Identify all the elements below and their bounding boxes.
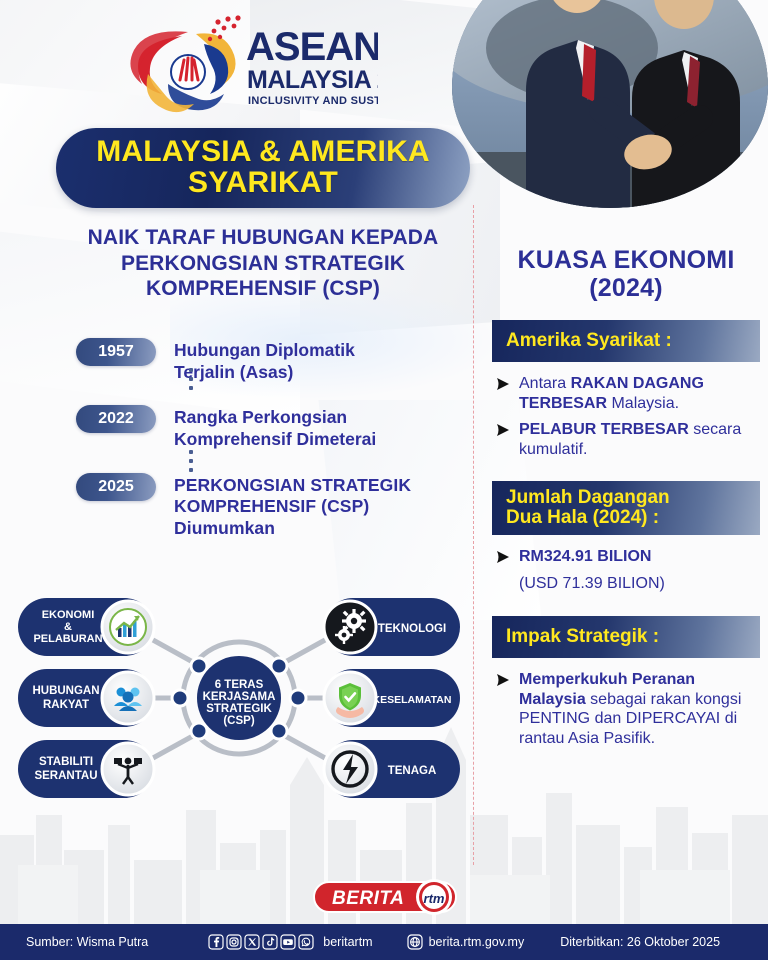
timeline-year-badge: 1957	[76, 338, 156, 366]
page-title: MALAYSIA & AMERIKA SYARIKAT	[96, 137, 430, 199]
section-header-jumlah-dagangan: Jumlah Dagangan Dua Hala (2024) :	[492, 481, 760, 535]
pillar-label-line1: KESELAMATAN	[373, 694, 452, 706]
asean-wordmark: ASEAN	[246, 25, 378, 69]
subtitle-line-1: NAIK TARAF HUBUNGAN KEPADA	[48, 225, 478, 251]
right-column: KUASA EKONOMI (2024) Amerika Syarikat : …	[492, 246, 760, 770]
facebook-icon	[208, 934, 224, 950]
footer-social-handle: beritartm	[323, 935, 372, 949]
subtitle-line-2: PERKONGSIAN STRATEGIK	[48, 251, 478, 277]
bullet-list-amerika-syarikat: Antara RAKAN DAGANG TERBESAR Malaysia. P…	[492, 374, 760, 459]
bullet-text: Antara RAKAN DAGANG TERBESAR Malaysia.	[519, 374, 758, 413]
bullet-text: Memperkukuh Peranan Malaysia sebagai rak…	[519, 670, 758, 748]
timeline-text-line2: Terjalin (Asas)	[174, 362, 355, 384]
right-title-line1: KUASA EKONOMI	[492, 246, 760, 274]
berita-wordmark: BERITA	[332, 888, 404, 909]
timeline-year-label: 2022	[98, 410, 134, 428]
timeline-text: PERKONGSIAN STRATEGIK KOMPREHENSIF (CSP)…	[174, 473, 411, 540]
timeline-text-line2: Komprehensif Dimeterai	[174, 429, 376, 451]
timeline: 1957 Hubungan Diplomatik Terjalin (Asas)…	[76, 338, 476, 546]
youtube-icon	[280, 934, 296, 950]
arrow-bullet-icon	[496, 423, 512, 437]
bullet-list-jumlah-dagangan: RM324.91 BILION (USD 71.39 BILION)	[492, 547, 760, 594]
pillar-teknologi: TEKNOLOGI	[324, 598, 460, 656]
pillar-label-line1: EKONOMI	[42, 609, 95, 621]
arrow-bullet-icon	[496, 377, 512, 391]
rtm-wordmark: rtm	[424, 891, 445, 906]
footer-website-label: berita.rtm.gov.my	[429, 935, 525, 949]
bullet-pre: Antara	[519, 375, 571, 392]
pillars-diagram: 6 TERAS KERJASAMA STRATEGIK (CSP) EKONOM…	[8, 578, 470, 818]
bullet-bold: PELABUR TERBESAR	[519, 421, 689, 438]
pillar-label-line1: HUBUNGAN	[32, 685, 99, 697]
pillar-stabiliti-serantau: STABILITI SERANTAU	[18, 740, 154, 798]
pillar-label-line3: PELABURAN	[33, 633, 102, 645]
subtitle-line-3: KOMPREHENSIF (CSP)	[48, 276, 478, 302]
bullet-item: Memperkukuh Peranan Malaysia sebagai rak…	[496, 670, 758, 748]
pillar-label-line2: RAKYAT	[43, 699, 89, 711]
pillar-hubungan-rakyat: HUBUNGAN RAKYAT	[18, 669, 154, 727]
asean-tagline: INCLUSIVITY AND SUSTAINABILITY	[248, 95, 378, 107]
section-header-amerika-syarikat: Amerika Syarikat :	[492, 320, 760, 362]
timeline-year-badge: 2022	[76, 405, 156, 433]
page-subtitle: NAIK TARAF HUBUNGAN KEPADA PERKONGSIAN S…	[48, 225, 478, 302]
arrow-bullet-icon	[496, 550, 512, 564]
timeline-text-line1: Hubungan Diplomatik	[174, 340, 355, 362]
footer-website: berita.rtm.gov.my	[407, 934, 525, 950]
whatsapp-icon	[298, 934, 314, 950]
leaders-handshake-photo	[452, 0, 768, 208]
asean-malaysia-2025-logo: ASEAN MALAYSIA 2025 INCLUSIVITY AND SUST…	[118, 12, 378, 116]
timeline-year-label: 2025	[98, 478, 134, 496]
footer-social-icons: beritartm	[208, 934, 372, 950]
timeline-year-label: 1957	[98, 343, 134, 361]
timeline-text-line1: Rangka Perkongsian	[174, 407, 376, 429]
page-title-line2: SYARIKAT	[188, 166, 338, 199]
tiktok-icon	[262, 934, 278, 950]
pillar-label-line1: TENAGA	[388, 765, 437, 777]
bullet-item: Antara RAKAN DAGANG TERBESAR Malaysia.	[496, 374, 758, 413]
x-twitter-icon	[244, 934, 260, 950]
bullet-item: RM324.91 BILION	[496, 547, 758, 567]
growth-chart-icon	[110, 609, 146, 645]
section-header-impak-strategik: Impak Strategik :	[492, 616, 760, 658]
pillar-keselamatan: KESELAMATAN	[324, 669, 460, 727]
timeline-item: 2022 Rangka Perkongsian Komprehensif Dim…	[76, 405, 476, 450]
timeline-connector	[189, 368, 193, 395]
bullet-list-impak-strategik: Memperkukuh Peranan Malaysia sebagai rak…	[492, 670, 760, 748]
pillar-label-line1: STABILITI	[39, 756, 93, 768]
timeline-item: 2025 PERKONGSIAN STRATEGIK KOMPREHENSIF …	[76, 473, 476, 540]
pillars-center-line4: (CSP)	[223, 715, 254, 727]
timeline-item: 1957 Hubungan Diplomatik Terjalin (Asas)	[76, 338, 476, 383]
timeline-text-line3: Diumumkan	[174, 518, 411, 540]
bullet-text: PELABUR TERBESAR secara kumulatif.	[519, 420, 758, 459]
bullet-post: Malaysia.	[607, 395, 679, 412]
timeline-year-badge: 2025	[76, 473, 156, 501]
section-header-label-line2: Dua Hala (2024) :	[506, 508, 670, 529]
section-header-label-line1: Jumlah Dagangan	[506, 488, 670, 509]
page-title-line1: MALAYSIA & AMERIKA	[96, 135, 430, 168]
pillar-tenaga: TENAGA	[324, 740, 460, 798]
pillar-label-line2: SERANTAU	[34, 770, 97, 782]
pillars-center-line3: STRATEGIK	[206, 703, 272, 715]
asean-subtitle: MALAYSIA 2025	[247, 66, 378, 94]
timeline-text-line1: PERKONGSIAN STRATEGIK	[174, 475, 411, 497]
asean-swirl-icon	[130, 15, 240, 112]
footer-bar: Sumber: Wisma Putra beritartm berita.rtm…	[0, 924, 768, 960]
instagram-icon	[226, 934, 242, 950]
pillar-label-line2: &	[64, 621, 72, 633]
arrow-bullet-icon	[496, 673, 512, 687]
pillars-center-line1: 6 TERAS	[215, 679, 264, 691]
bullet-item: PELABUR TERBESAR secara kumulatif.	[496, 420, 758, 459]
footer-source: Sumber: Wisma Putra	[26, 935, 148, 949]
pillars-center-line2: KERJASAMA	[203, 691, 276, 703]
bullet-text: RM324.91 BILION	[519, 547, 651, 567]
pillar-ekonomi-pelaburan: EKONOMI & PELABURAN	[18, 598, 154, 656]
timeline-text: Hubungan Diplomatik Terjalin (Asas)	[174, 338, 355, 383]
bullet-bold: RM324.91 BILION	[519, 548, 651, 565]
main-title-banner: MALAYSIA & AMERIKA SYARIKAT	[56, 128, 470, 208]
right-column-title: KUASA EKONOMI (2024)	[492, 246, 760, 302]
right-title-line2: (2024)	[492, 274, 760, 302]
infographic-page: ASEAN MALAYSIA 2025 INCLUSIVITY AND SUST…	[0, 0, 768, 960]
berita-rtm-logo: BERITA rtm	[310, 876, 470, 918]
globe-icon	[407, 934, 423, 950]
section-header-label: Amerika Syarikat :	[506, 331, 672, 352]
pillar-label-line1: TEKNOLOGI	[378, 623, 446, 635]
timeline-text: Rangka Perkongsian Komprehensif Dimetera…	[174, 405, 376, 450]
footer-published-date: Diterbitkan: 26 Oktober 2025	[560, 935, 720, 949]
leaders-photo	[452, 0, 768, 208]
trade-value-usd: (USD 71.39 BILION)	[496, 574, 758, 595]
shield-check-icon	[336, 683, 364, 718]
timeline-text-line2: KOMPREHENSIF (CSP)	[174, 496, 411, 518]
section-header-label: Impak Strategik :	[506, 627, 659, 648]
